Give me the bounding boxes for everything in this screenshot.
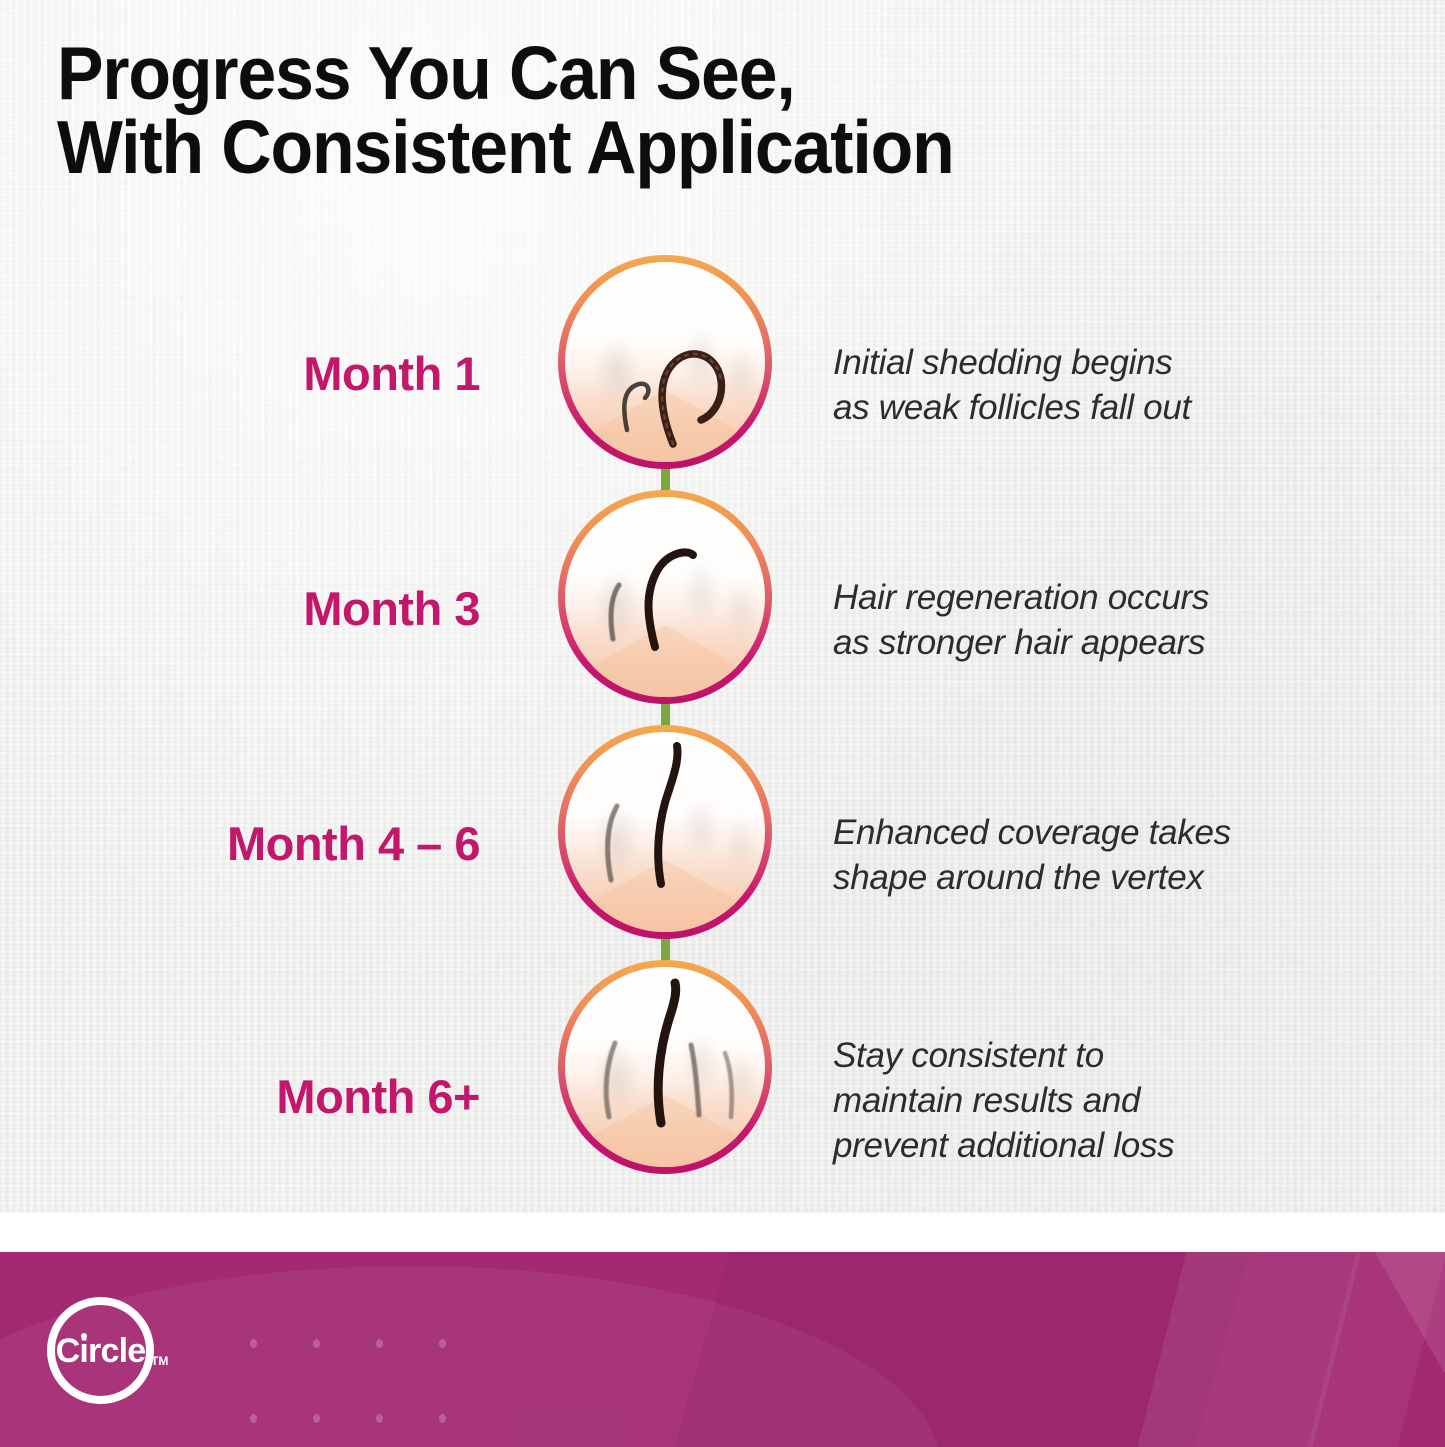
logo-degree-dot-icon [81, 1333, 87, 1339]
follicle-shedding-icon [558, 255, 772, 469]
brand-footer [0, 1252, 1445, 1447]
timeline-step-3: Month 4 – 6 Enhanced coverage takes shap… [0, 718, 1445, 953]
circle-brand-logo: Circle TM [47, 1297, 154, 1404]
follicle-regrowth-icon [558, 490, 772, 704]
brand-name-text: Circle [56, 1332, 146, 1370]
step-description-month-1: Initial shedding begins as weak follicle… [833, 340, 1393, 430]
timeline-step-2: Month 3 Hair regeneration occurs as stro… [0, 483, 1445, 718]
step-description-month-4-6: Enhanced coverage takes shape around the… [833, 810, 1393, 900]
follicle-full-growth-icon [558, 960, 772, 1174]
step-label-month-4-6: Month 4 – 6 [80, 816, 480, 871]
trademark-symbol: TM [151, 1355, 168, 1367]
timeline-step-4: Month 6+ Stay consistent to maintain res… [0, 953, 1445, 1188]
progress-timeline: Month 1 Initial shedding begins as weak … [0, 248, 1445, 1188]
timeline-step-1: Month 1 Initial shedding begins as weak … [0, 248, 1445, 483]
page-title: Progress You Can See, With Consistent Ap… [57, 36, 1201, 185]
footer-dot-pattern [250, 1253, 510, 1447]
step-label-month-1: Month 1 [80, 346, 480, 401]
step-label-month-3: Month 3 [80, 581, 480, 636]
follicle-coverage-icon [558, 725, 772, 939]
step-description-month-6-plus: Stay consistent to maintain results and … [833, 1033, 1393, 1168]
step-label-month-6-plus: Month 6+ [80, 1069, 480, 1124]
step-description-month-3: Hair regeneration occurs as stronger hai… [833, 575, 1393, 665]
